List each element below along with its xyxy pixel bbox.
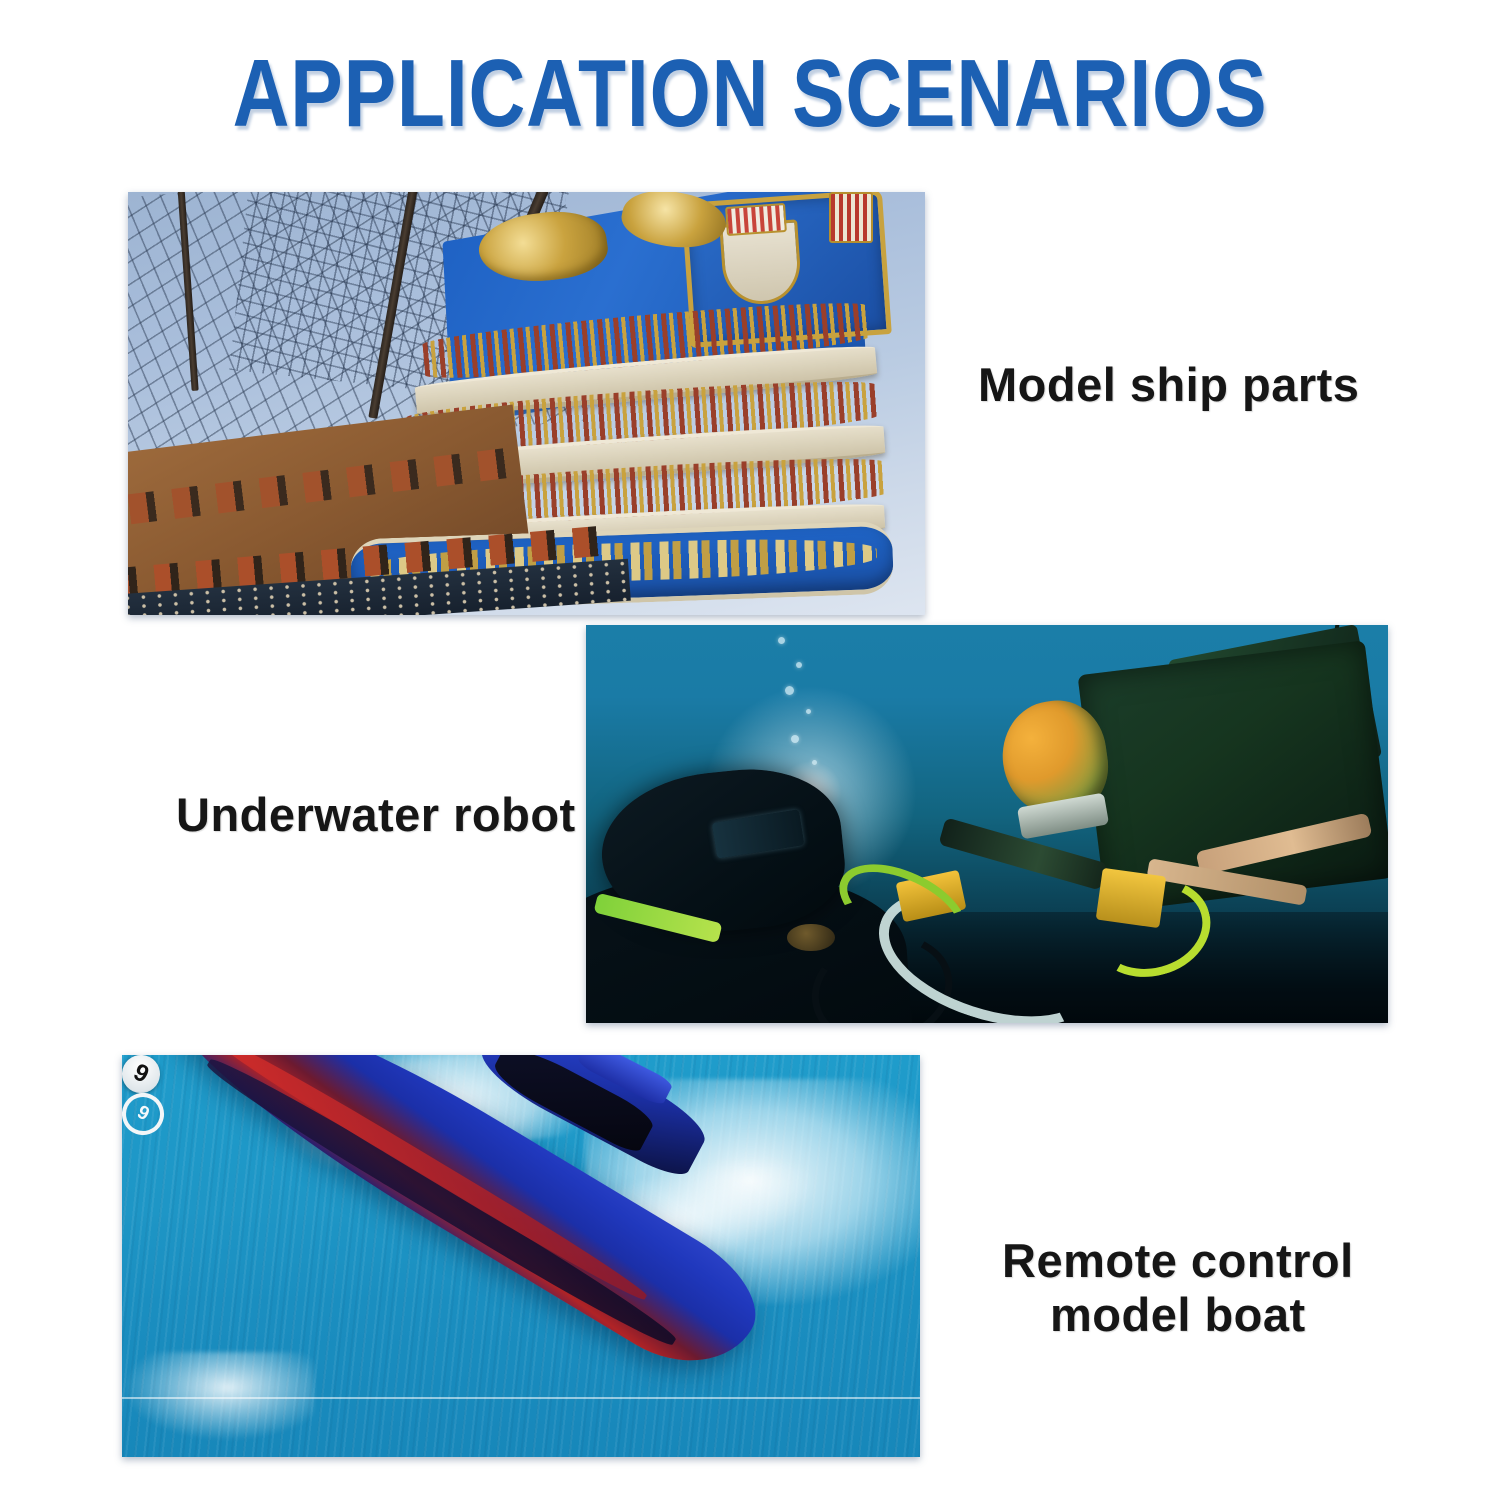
page-title: APPLICATION SCENARIOS (135, 44, 1365, 145)
diver-regulator (787, 924, 835, 952)
scenario-caption-rc-boat: Remote control model boat (1002, 1234, 1354, 1341)
horizon-line (122, 1397, 920, 1399)
scenario-image-underwater-robot (586, 625, 1388, 1023)
scenario-caption-underwater-robot: Underwater robot (176, 788, 576, 842)
scenario-image-model-ship (128, 192, 925, 615)
crest-crown (725, 203, 787, 236)
stern-lantern (829, 192, 873, 243)
scenario-caption-model-ship: Model ship parts (978, 358, 1359, 412)
scenario-image-rc-boat: 9 9 Sea HIGH-SPEED RACE BOAT TEAM Sponso… (122, 1055, 920, 1457)
